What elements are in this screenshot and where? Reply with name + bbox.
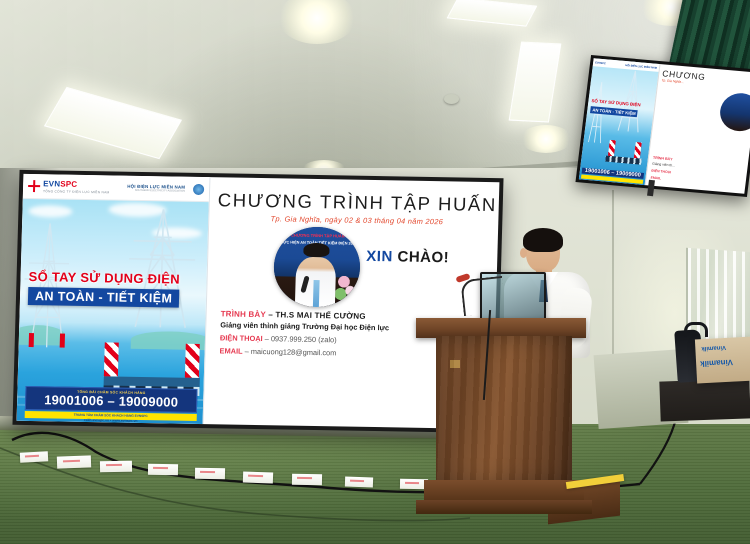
poster-headline-primary: SỔ TAY SỬ DỤNG ĐIỆN [28, 269, 180, 287]
poster-header: EVNSPC TỔNG CÔNG TY ĐIỆN LỰC MIỀN NAM HỘ… [23, 174, 210, 202]
carpet-texture [0, 424, 750, 544]
tv-content-panel: CHƯƠNG Tp. Gia Nghĩa... TRÌNH BÀY Giảng … [646, 64, 750, 194]
podium-base [424, 480, 584, 502]
brand-evn: EVN [43, 179, 60, 188]
greeting-text: XIN CHÀO! [366, 248, 449, 266]
hotline-box: TỔNG ĐÀI CHĂM SÓC KHÁCH HÀNG 19001006 – … [25, 386, 198, 413]
evnspc-wordmark: EVNSPC [43, 180, 110, 189]
presentation-slide: EVNSPC TỔNG CÔNG TY ĐIỆN LỰC MIỀN NAM HỘ… [17, 174, 500, 429]
poster-artwork: SỔ TAY SỬ DỤNG ĐIỆN AN TOÀN - TIẾT KIỆM … [17, 199, 209, 424]
presenter-label: TRÌNH BÀY [221, 309, 266, 319]
poster-panel: EVNSPC TỔNG CÔNG TY ĐIỆN LỰC MIỀN NAM HỘ… [17, 174, 211, 424]
partner-subtitle: SOUTHERN ELECTRICITY ASSOCIATION [127, 189, 185, 193]
tv-screen: EVNSPC HỘI ĐIỆN LỰC MIỀN NAM [579, 58, 750, 194]
dark-cabinet [659, 378, 750, 421]
conference-room-photo: EVNSPC TỔNG CÔNG TY ĐIỆN LỰC MIỀN NAM HỘ… [0, 0, 750, 544]
partner-logo-block: HỘI ĐIỆN LỰC MIỀN NAM SOUTHERN ELECTRICI… [127, 184, 185, 193]
phone-label: ĐIỆN THOẠI [220, 333, 263, 343]
greeting-word-2: CHÀO! [397, 248, 449, 266]
brand-spc: SPC [60, 179, 77, 188]
photo-banner-line1: CHƯƠNG TRÌNH TẬP HUẤN [283, 231, 352, 239]
tv-safety-barrier [634, 142, 642, 158]
safety-barrier [104, 342, 119, 376]
tv-presenter-label: TRÌNH BÀY [653, 156, 673, 162]
presenter-dash: – [268, 310, 273, 319]
tv-presenter-photo [718, 92, 750, 133]
cardboard-box: Vinamilk Vinamilk [695, 337, 750, 384]
email-label: EMAIL [219, 346, 242, 355]
slide-title: CHƯƠNG TRÌNH TẬP HUẤN [218, 189, 498, 216]
floor-paper [148, 464, 178, 476]
floor-paper [195, 468, 225, 480]
floor-paper [243, 471, 273, 483]
presenter-ear [520, 248, 527, 258]
presenter-photo: CHƯƠNG TRÌNH TẬP HUẤN THỰC HIỆN AN TOÀN … [273, 226, 361, 307]
photo-person-tie [312, 280, 319, 307]
tv-brand-evn: EVNSPC [595, 61, 606, 65]
floor-paper [20, 451, 48, 462]
safety-barrier [185, 344, 200, 378]
podium-plinth [416, 500, 592, 514]
podium-top-surface [416, 318, 586, 338]
ceiling-downlight [520, 125, 572, 153]
wall-mounted-tv[interactable]: EVNSPC HỘI ĐIỆN LỰC MIỀN NAM [575, 55, 750, 197]
gooseneck-microphone [460, 276, 506, 316]
box-brand-label-secondary: Vinamilk [701, 344, 726, 351]
poster-headline-secondary: AN TOÀN - TIẾT KIỆM [28, 287, 180, 308]
transmission-tower-icon [21, 221, 77, 350]
flower-arrangement [335, 269, 357, 305]
tv-affiliation: Giảng viên th... [652, 162, 675, 168]
smoke-detector-icon [444, 94, 459, 104]
presenter-hair [523, 228, 563, 252]
floor-paper [292, 474, 322, 486]
floor-paper [345, 477, 373, 488]
greeting-word-1: XIN [366, 248, 393, 265]
podium-emblem [450, 360, 460, 368]
floor-paper [57, 455, 91, 468]
podium [430, 318, 582, 516]
tv-safety-barrier [608, 140, 616, 156]
photo-person-hair [304, 243, 330, 257]
phone-value: – 0937.999.250 (zalo) [265, 334, 337, 344]
podium-body [436, 336, 572, 484]
brand-subtitle: TỔNG CÔNG TY ĐIỆN LỰC MIỀN NAM [43, 189, 110, 194]
electricity-cross-icon [28, 180, 40, 192]
hotline-number: 19001006 – 19009000 [29, 393, 193, 409]
floor-paper [100, 461, 132, 473]
tv-phone-label: ĐIỆN THOẠI [651, 169, 671, 175]
cloud [28, 205, 72, 218]
email-value: – maicuong128@gmail.com [245, 347, 337, 358]
bag-handle [684, 322, 708, 337]
slide-photo-row: CHƯƠNG TRÌNH TẬP HUẤN THỰC HIỆN AN TOÀN … [215, 225, 496, 312]
evnspc-logo: EVNSPC TỔNG CÔNG TY ĐIỆN LỰC MIỀN NAM [28, 179, 110, 193]
box-brand-label: Vinamilk [700, 358, 733, 369]
partner-seal-icon [193, 183, 204, 194]
presenter-name: TH.S MAI THẾ CƯỜNG [275, 310, 366, 321]
tv-brand-partner: HỘI ĐIỆN LỰC MIỀN NAM [625, 64, 657, 70]
